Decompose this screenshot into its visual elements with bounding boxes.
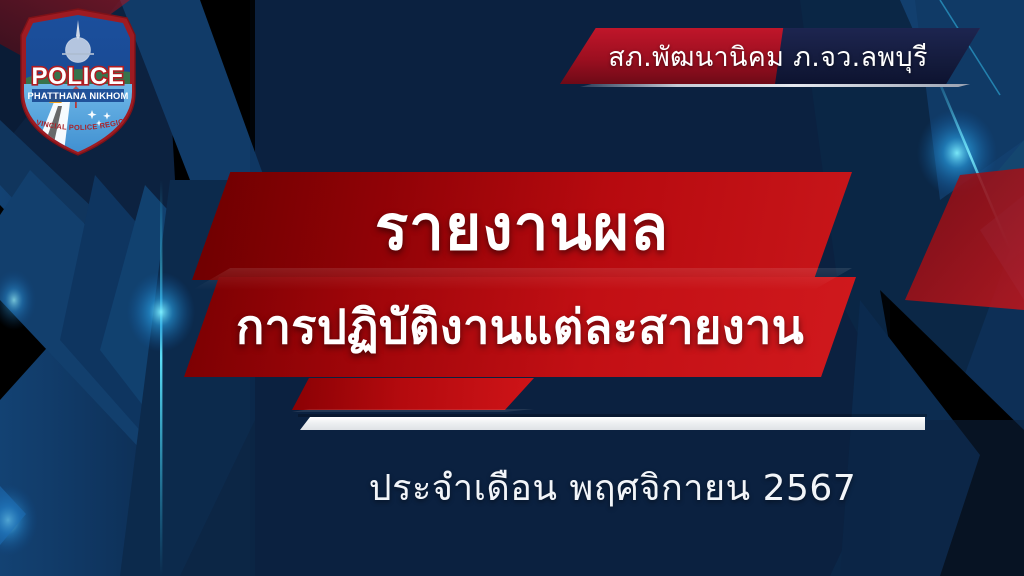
title-tail-bar — [292, 378, 534, 410]
org-banner: สภ.พัฒนานิคม ภ.จว.ลพบุรี — [560, 28, 980, 84]
police-badge: POLICE PHATTHANA NIKHOM PROVINCIAL POLIC… — [8, 6, 148, 158]
divider-bar — [300, 417, 925, 430]
main-title-block: รายงานผล การปฏิบัติงานแต่ละสายงาน — [192, 172, 852, 376]
bg-edge-glow-left-vertical — [160, 180, 162, 576]
badge-station-text: PHATTHANA NIKHOM — [27, 90, 128, 101]
divider-shadow — [298, 414, 927, 417]
badge-police-text: POLICE — [32, 63, 125, 90]
police-badge-svg: POLICE PHATTHANA NIKHOM PROVINCIAL POLIC… — [8, 6, 148, 158]
title-line-1: รายงานผล — [192, 180, 852, 276]
title-line-2: การปฏิบัติงานแต่ละสายงาน — [184, 278, 856, 374]
title-tail-bar-edge — [292, 409, 534, 412]
subtitle-text: ประจำเดือน พฤศจิกายน 2567 — [300, 458, 925, 516]
presentation-slide: POLICE PHATTHANA NIKHOM PROVINCIAL POLIC… — [0, 0, 1024, 576]
org-banner-underline — [580, 84, 970, 87]
org-banner-label: สภ.พัฒนานิคม ภ.จว.ลพบุรี — [560, 28, 980, 84]
